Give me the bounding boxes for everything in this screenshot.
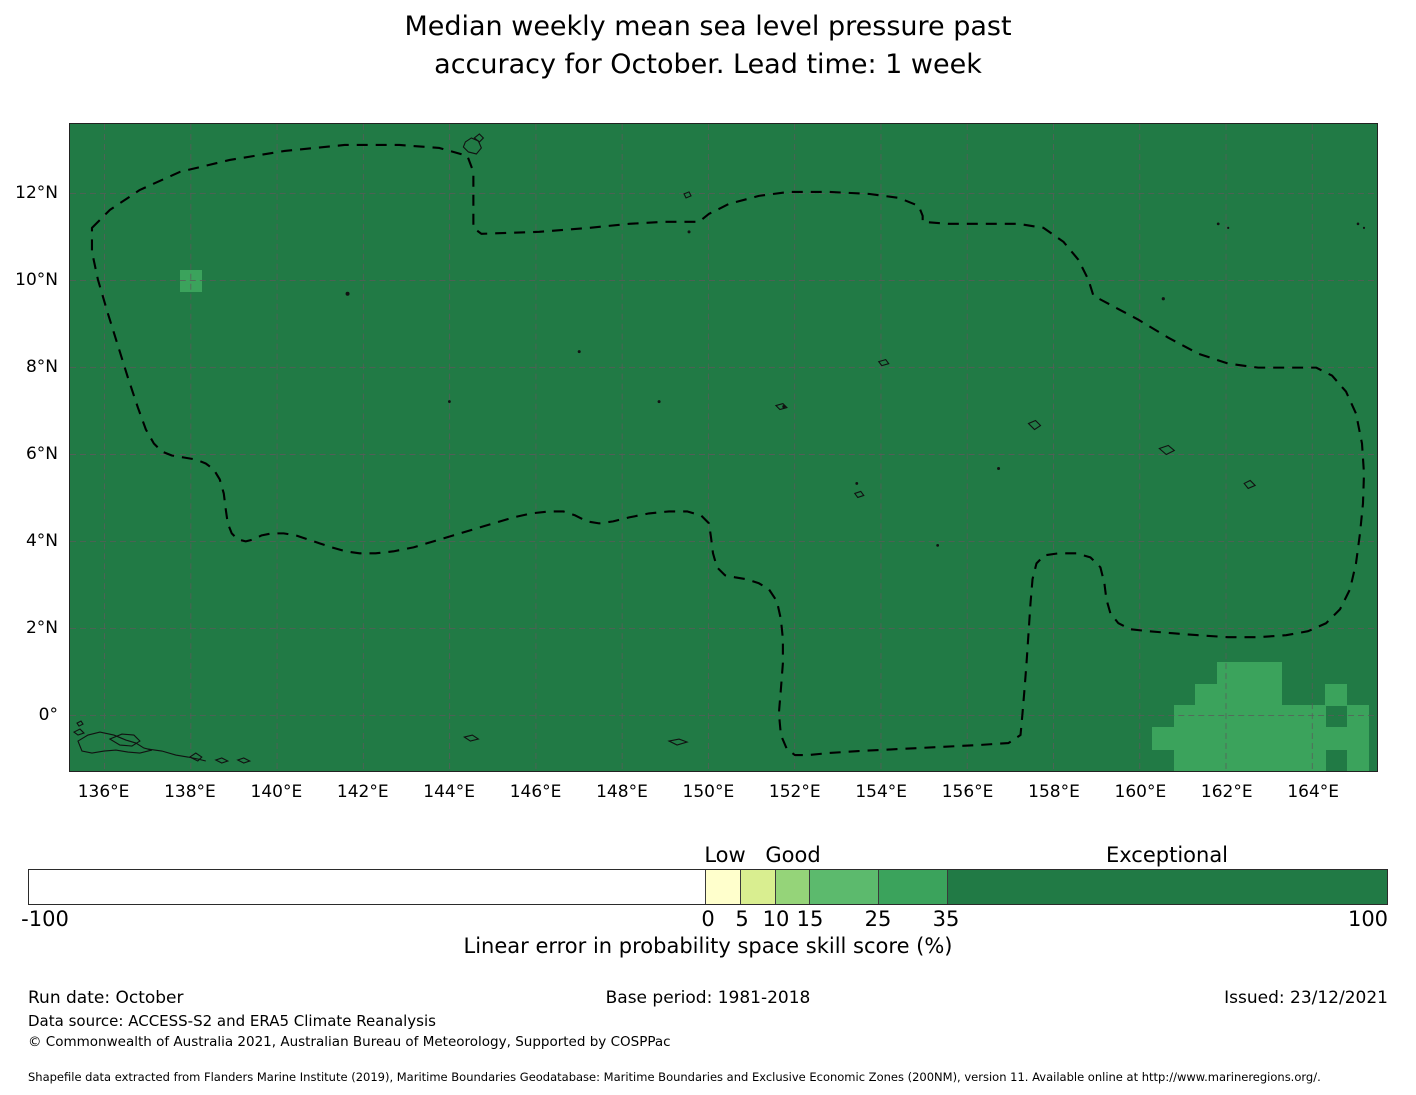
- colorbar-category: Good: [765, 843, 820, 867]
- issued-date-text: Issued: 23/12/2021: [1224, 988, 1388, 1008]
- colorbar-category: Exceptional: [1106, 843, 1228, 867]
- y-axis-tick-label: 4°N: [26, 531, 58, 551]
- colorbar-gradient[interactable]: [28, 869, 1388, 905]
- map-plot-area[interactable]: [69, 123, 1378, 772]
- x-axis-tick-label: 144°E: [423, 782, 475, 802]
- copyright-text: © Commonwealth of Australia 2021, Austra…: [28, 1034, 671, 1050]
- y-axis-tick-label: 10°N: [15, 270, 58, 290]
- colorbar-segment: [706, 870, 741, 904]
- eez-boundary: [70, 124, 1377, 772]
- footer: Run date: October Base period: 1981-2018…: [0, 988, 1416, 1010]
- x-axis-tick-label: 158°E: [1028, 782, 1080, 802]
- map-container[interactable]: [69, 123, 1378, 772]
- colorbar[interactable]: [28, 869, 1388, 905]
- colorbar-segment: [741, 870, 776, 904]
- title-line-2: accuracy for October. Lead time: 1 week: [0, 46, 1416, 84]
- x-axis-tick-label: 160°E: [1115, 782, 1167, 802]
- x-axis-tick-label: 154°E: [855, 782, 907, 802]
- shapefile-credit-text: Shapefile data extracted from Flanders M…: [28, 1070, 1321, 1084]
- x-axis-tick-label: 142°E: [337, 782, 389, 802]
- data-source-text: Data source: ACCESS-S2 and ERA5 Climate …: [28, 1012, 436, 1030]
- colorbar-tick: 25: [865, 907, 892, 931]
- page-title: Median weekly mean sea level pressure pa…: [0, 8, 1416, 84]
- x-axis-tick-label: 162°E: [1201, 782, 1253, 802]
- base-period-text: Base period: 1981-2018: [0, 988, 1416, 1008]
- colorbar-tick: 10: [763, 907, 790, 931]
- y-axis-tick-label: 12°N: [15, 183, 58, 203]
- y-axis-tick-label: 2°N: [26, 618, 58, 638]
- colorbar-category: Low: [704, 843, 745, 867]
- colorbar-tick: 35: [933, 907, 960, 931]
- colorbar-tick: 0: [701, 907, 714, 931]
- x-axis-tick-label: 148°E: [596, 782, 648, 802]
- title-line-1: Median weekly mean sea level pressure pa…: [0, 8, 1416, 46]
- x-axis-tick-label: 152°E: [769, 782, 821, 802]
- y-axis-tick-label: 0°: [39, 705, 58, 725]
- colorbar-axis-label: Linear error in probability space skill …: [0, 934, 1416, 958]
- x-axis-tick-label: 156°E: [942, 782, 994, 802]
- x-axis-tick-label: 164°E: [1287, 782, 1339, 802]
- colorbar-segment: [776, 870, 811, 904]
- colorbar-segment: [879, 870, 948, 904]
- y-axis-tick-label: 6°N: [26, 444, 58, 464]
- y-axis-tick-label: 8°N: [26, 357, 58, 377]
- x-axis-tick-label: 140°E: [251, 782, 303, 802]
- x-axis-tick-label: 136°E: [78, 782, 130, 802]
- colorbar-segment: [29, 870, 706, 904]
- colorbar-segment: [948, 870, 1387, 904]
- x-axis-tick-label: 138°E: [164, 782, 216, 802]
- colorbar-tick: 15: [797, 907, 824, 931]
- colorbar-tick: 100: [1348, 907, 1388, 931]
- colorbar-tick: 5: [735, 907, 748, 931]
- x-axis-tick-label: 150°E: [683, 782, 735, 802]
- colorbar-segment: [810, 870, 879, 904]
- colorbar-tick: -100: [21, 907, 69, 931]
- x-axis-tick-label: 146°E: [510, 782, 562, 802]
